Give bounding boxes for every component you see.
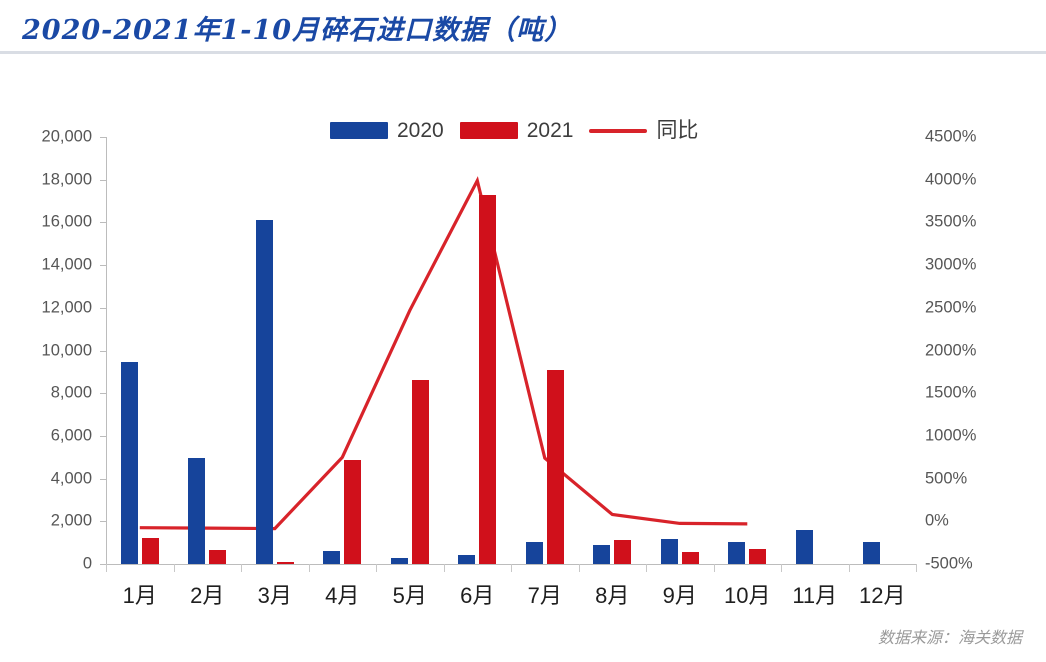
x-axis-tick-label: 8月 — [595, 578, 629, 610]
x-axis-tick-label: 3月 — [258, 578, 292, 610]
x-axis-tick-label: 7月 — [528, 578, 562, 610]
bar-2020-12月[interactable] — [863, 542, 880, 564]
bar-2021-4月[interactable] — [344, 460, 361, 564]
bar-2020-7月[interactable] — [526, 542, 543, 564]
bar-2020-1月[interactable] — [121, 362, 138, 564]
x-axis-tick-label: 10月 — [724, 578, 770, 610]
y-axis-left-tick-label: 14,000 — [0, 256, 92, 275]
x-axis-tick-label: 4月 — [325, 578, 359, 610]
y-axis-left-tick-label: 0 — [0, 555, 92, 574]
x-axis-tick-label: 9月 — [663, 578, 697, 610]
x-axis-tick-label: 12月 — [859, 578, 905, 610]
y-axis-left-tick-label: 2,000 — [0, 512, 92, 531]
y-axis-right-tick-label: 3500% — [925, 213, 976, 232]
x-axis-tick — [849, 564, 850, 572]
x-axis-tick — [106, 564, 107, 572]
x-axis-tick — [646, 564, 647, 572]
y-axis-left-tick-label: 6,000 — [0, 426, 92, 445]
bar-2020-2月[interactable] — [188, 458, 205, 564]
x-axis-tick — [916, 564, 917, 572]
x-axis-tick-label: 5月 — [393, 578, 427, 610]
x-axis-tick-label: 2月 — [190, 578, 224, 610]
y-axis-right-tick-label: 1000% — [925, 426, 976, 445]
y-axis-right-tick-label: -500% — [925, 555, 973, 574]
x-axis-tick — [781, 564, 782, 572]
yoy-line-path — [140, 181, 748, 529]
y-axis-left-tick-label: 10,000 — [0, 341, 92, 360]
yoy-line-series — [106, 137, 916, 564]
y-axis-left-tick-label: 4,000 — [0, 469, 92, 488]
x-axis-tick-label: 1月 — [123, 578, 157, 610]
y-axis-left-tick-label: 16,000 — [0, 213, 92, 232]
y-axis-right-tick-label: 4000% — [925, 170, 976, 189]
y-axis-right-tick-label: 4500% — [925, 128, 976, 147]
chart-container: 2020-2021年1-10月碎石进口数据（吨） 2020 2021 同比 02… — [0, 0, 1046, 662]
y-axis-left-tick-label: 12,000 — [0, 298, 92, 317]
x-axis-tick — [714, 564, 715, 572]
bar-2020-5月[interactable] — [391, 558, 408, 564]
y-axis-right-tick-label: 1500% — [925, 384, 976, 403]
y-axis-right-tick-label: 0% — [925, 512, 949, 531]
bar-2020-8月[interactable] — [593, 545, 610, 564]
x-axis-tick — [444, 564, 445, 572]
bar-2020-3月[interactable] — [256, 220, 273, 564]
bar-2020-10月[interactable] — [728, 542, 745, 564]
bar-2021-3月[interactable] — [277, 562, 294, 564]
y-axis-right-tick-label: 500% — [925, 469, 967, 488]
x-axis-tick — [174, 564, 175, 572]
bar-2021-2月[interactable] — [209, 550, 226, 564]
x-axis-tick — [579, 564, 580, 572]
y-axis-left-tick-label: 20,000 — [0, 128, 92, 147]
red-line-swatch — [589, 129, 647, 133]
title-divider — [0, 51, 1046, 54]
x-axis-tick — [309, 564, 310, 572]
bar-2021-7月[interactable] — [547, 370, 564, 564]
x-axis-tick — [511, 564, 512, 572]
page-title: 2020-2021年1-10月碎石进口数据（吨） — [22, 8, 572, 47]
bar-2020-4月[interactable] — [323, 551, 340, 564]
x-axis-tick-label: 6月 — [460, 578, 494, 610]
y-axis-right-tick-label: 2500% — [925, 298, 976, 317]
data-source-note: 数据来源：海关数据 — [878, 624, 1022, 648]
bar-2020-6月[interactable] — [458, 555, 475, 564]
x-axis-tick-label: 11月 — [792, 578, 837, 610]
bar-2021-5月[interactable] — [412, 380, 429, 564]
bar-2021-1月[interactable] — [142, 538, 159, 564]
x-axis-tick — [376, 564, 377, 572]
bar-2021-10月[interactable] — [749, 549, 766, 564]
bar-2020-11月[interactable] — [796, 530, 813, 564]
y-axis-right-tick-label: 2000% — [925, 341, 976, 360]
x-axis-tick — [241, 564, 242, 572]
y-axis-right-tick-label: 3000% — [925, 256, 976, 275]
bar-2021-8月[interactable] — [614, 540, 631, 564]
bar-2021-6月[interactable] — [479, 195, 496, 564]
y-axis-left-tick-label: 8,000 — [0, 384, 92, 403]
bar-2021-9月[interactable] — [682, 552, 699, 564]
bar-2020-9月[interactable] — [661, 539, 678, 564]
plot-area — [106, 137, 916, 564]
y-axis-left-tick-label: 18,000 — [0, 170, 92, 189]
